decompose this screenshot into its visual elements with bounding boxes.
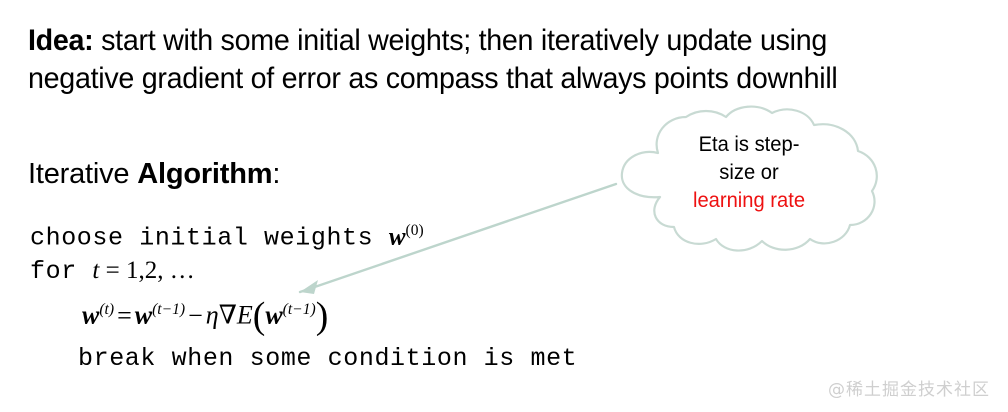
pseudocode-line-for: for t = 1,2, … [30,256,195,287]
equation-lhs-var: w [82,301,99,330]
slide-headline: Idea: start with some initial weights; t… [28,22,921,98]
equation-rhs-superscript: (t−1) [152,301,185,318]
cloud-line-1: Eta is step- [699,133,800,156]
algorithm-heading-suffix: : [272,158,280,190]
slide-canvas: Idea: start with some initial weights; t… [0,0,1008,412]
equation-rhs-var: w [135,301,152,330]
cloud-callout: Eta is step- size or learning rate [608,103,890,261]
algorithm-heading: Iterative Algorithm: [28,157,280,191]
headline-rest: start with some initial weights; then it… [28,24,837,95]
equation-eta-symbol: η [206,301,219,330]
cloud-line-3-highlight: learning rate [693,189,805,212]
pseudocode-line-break: break when some condition is met [78,344,577,374]
equation-open-paren: ( [253,295,266,337]
algorithm-heading-prefix: Iterative [28,158,137,190]
equation-lhs-superscript: (t) [99,301,114,318]
pseudocode-for-keyword: for [30,257,92,286]
equation-close-paren: ) [316,295,329,337]
watermark: @稀土掘金技术社区 [828,375,990,400]
equation-arg-superscript: (t−1) [283,301,316,318]
equation-equals-sign: = [114,301,135,330]
cloud-line-2: size or [719,161,778,184]
callout-connector-line [288,170,628,300]
pseudocode-for-rest: = 1,2, … [99,257,194,284]
algorithm-heading-bold: Algorithm [137,158,272,190]
cloud-callout-text: Eta is step- size or learning rate [646,131,851,215]
connector-arrowhead-icon [300,280,318,294]
equation-error-function: E [237,301,253,330]
equation-arg-var: w [265,301,282,330]
equation-nabla-icon: ∇ [219,301,237,330]
headline-lead: Idea: [28,24,93,57]
equation-minus-sign: − [185,301,206,330]
